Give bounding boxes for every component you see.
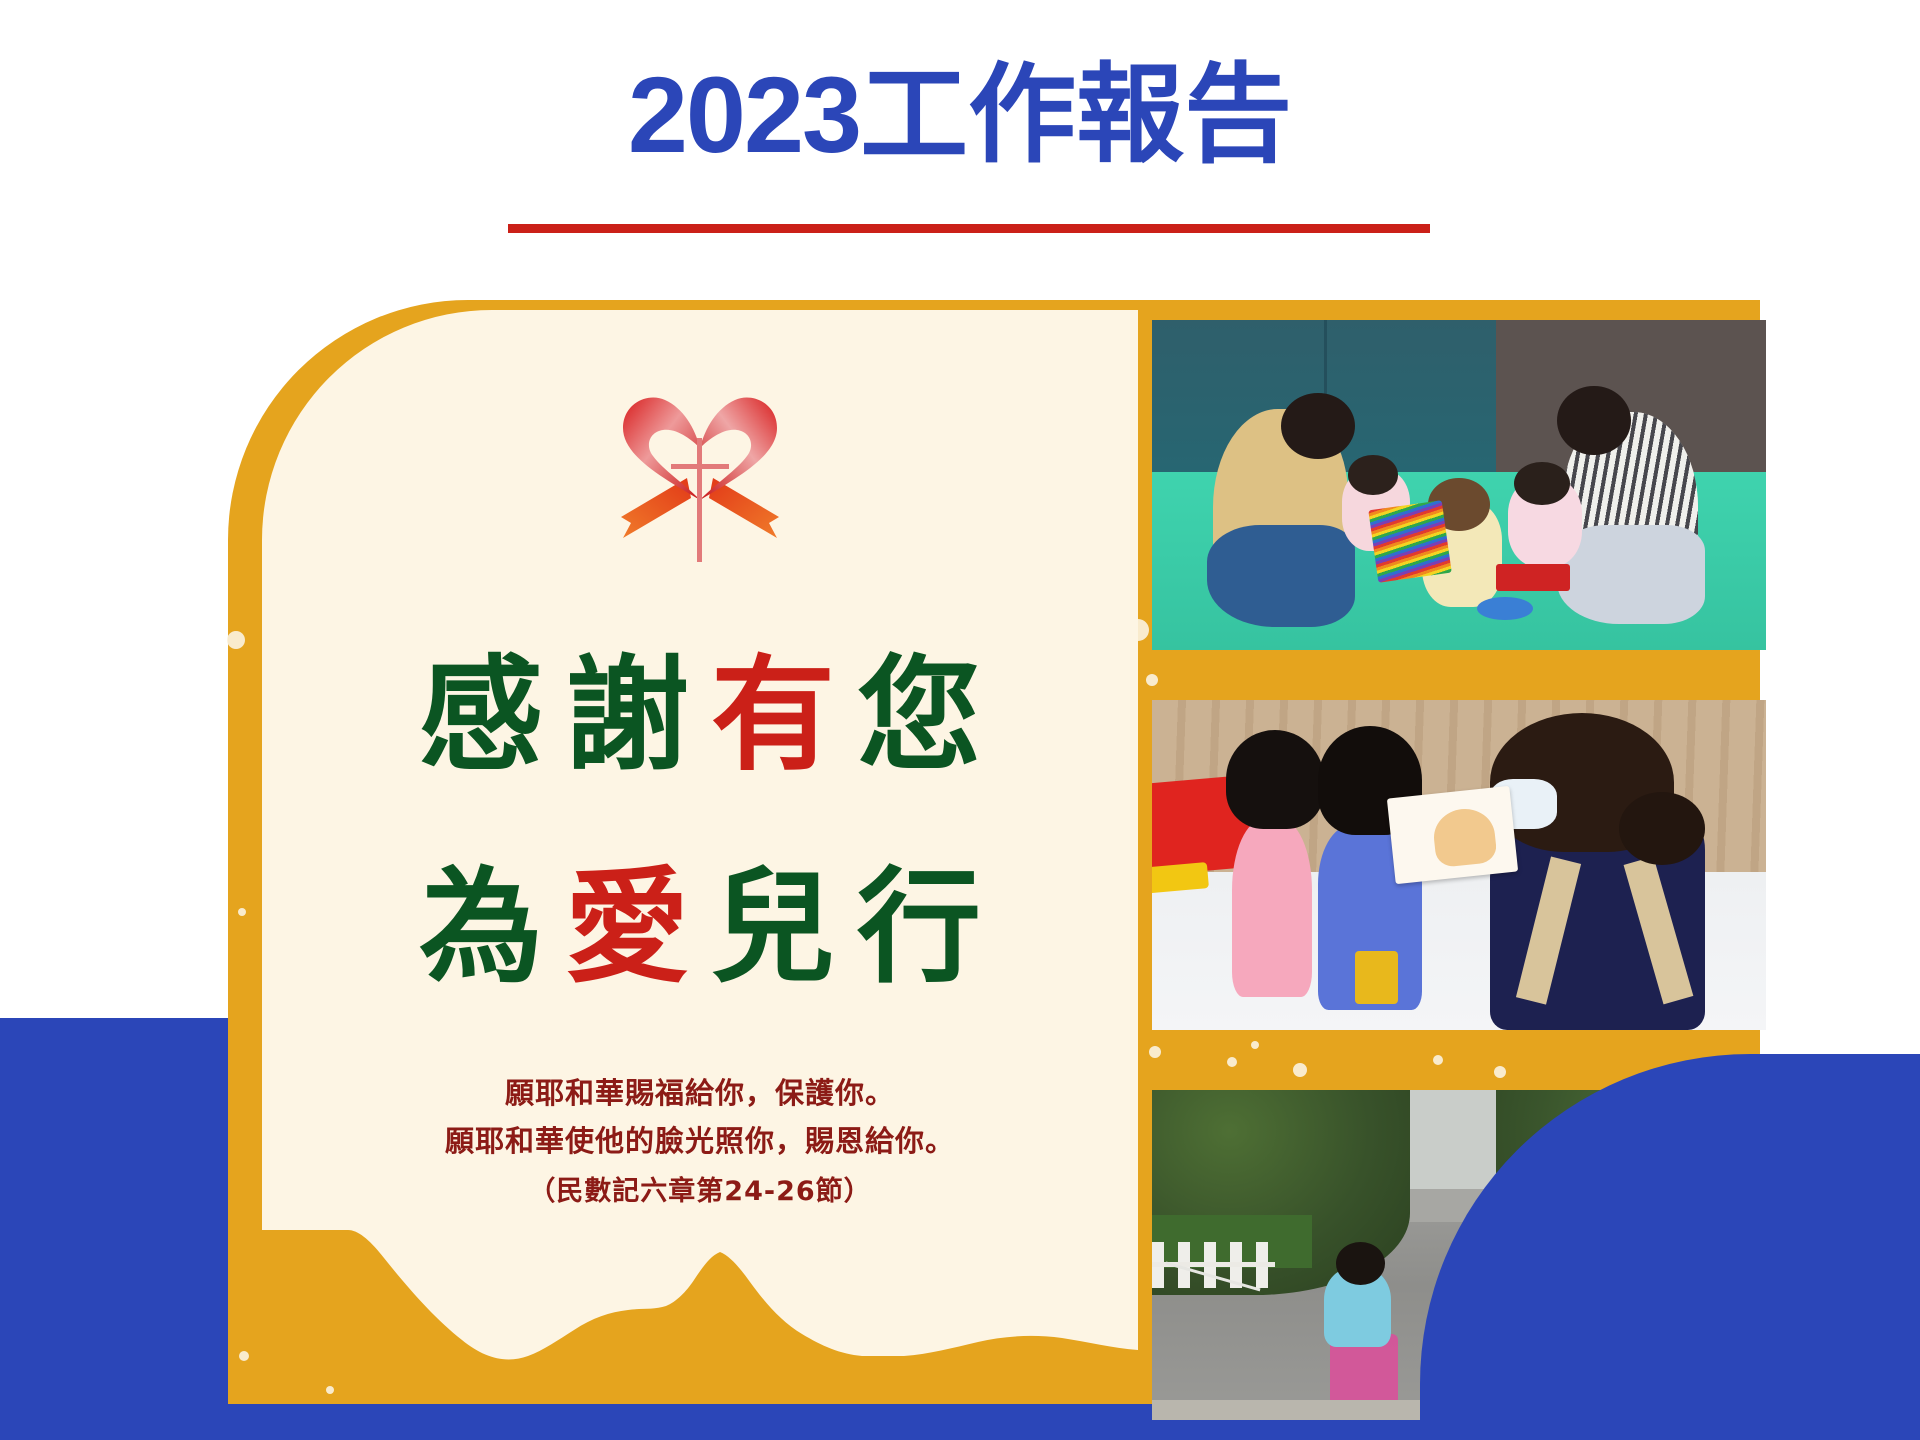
calligraphy-char-8: 行 [857,855,1003,1000]
calligraphy-char-2: 謝 [565,643,711,788]
photo-2-content [1152,700,1766,1030]
decorative-dot [227,631,245,649]
decorative-dot [1433,1055,1443,1065]
calligraphy-char-6: 愛 [565,855,711,1000]
calligraphy-char-4: 您 [857,643,1003,788]
decorative-dot [1146,674,1158,686]
heart-loop-right [700,398,777,500]
page-title-year: 2023 [628,54,860,175]
decorative-dot [1149,1046,1161,1058]
decorative-dot [1494,1066,1506,1078]
decorative-dot [1293,1063,1307,1077]
scripture-verse: 願耶和華賜福給你，保護你。 願耶和華使他的臉光照你，賜恩給你。 （民數記六章第2… [262,1070,1138,1217]
calligraphy-line-1: 感謝有您 [262,654,1138,778]
photo-nursery-music-play [1152,320,1766,650]
verse-line-2: 願耶和華使他的臉光照你，賜恩給你。 [262,1118,1138,1166]
cross-vertical [697,438,702,562]
verse-line-1: 願耶和華賜福給你，保護你。 [262,1070,1138,1118]
decorative-dot [326,1386,334,1394]
cream-content-card: 感謝有您 為愛兒行 願耶和華賜福給你，保護你。 願耶和華使他的臉光照你，賜恩給你… [262,310,1138,1380]
heart-ribbon-cross-icon [595,382,805,572]
page-header: 2023工作報告 [0,0,1920,260]
calligraphy-char-7: 兒 [711,855,857,1000]
calligraphy-char-5: 為 [419,855,565,1000]
decorative-dot [239,1351,249,1361]
heart-loop-left [623,398,700,500]
page-title: 2023工作報告 [0,0,1920,171]
verse-reference: （民數記六章第24-26節） [262,1166,1138,1217]
photo-1-content [1152,320,1766,650]
decorative-dot [1227,1057,1237,1067]
logo-container [262,382,1138,577]
photo-storybook-reading [1152,700,1766,1030]
calligraphy-char-1: 感 [419,643,565,788]
calligraphy-line-2: 為愛兒行 [262,866,1138,990]
mountain-silhouette [262,1230,1138,1380]
cross-horizontal [671,464,729,469]
calligraphy-char-3: 有 [711,643,857,788]
decorative-dot [1251,1041,1259,1049]
decorative-dot [238,908,246,916]
page-title-rest: 工作報告 [860,54,1292,175]
